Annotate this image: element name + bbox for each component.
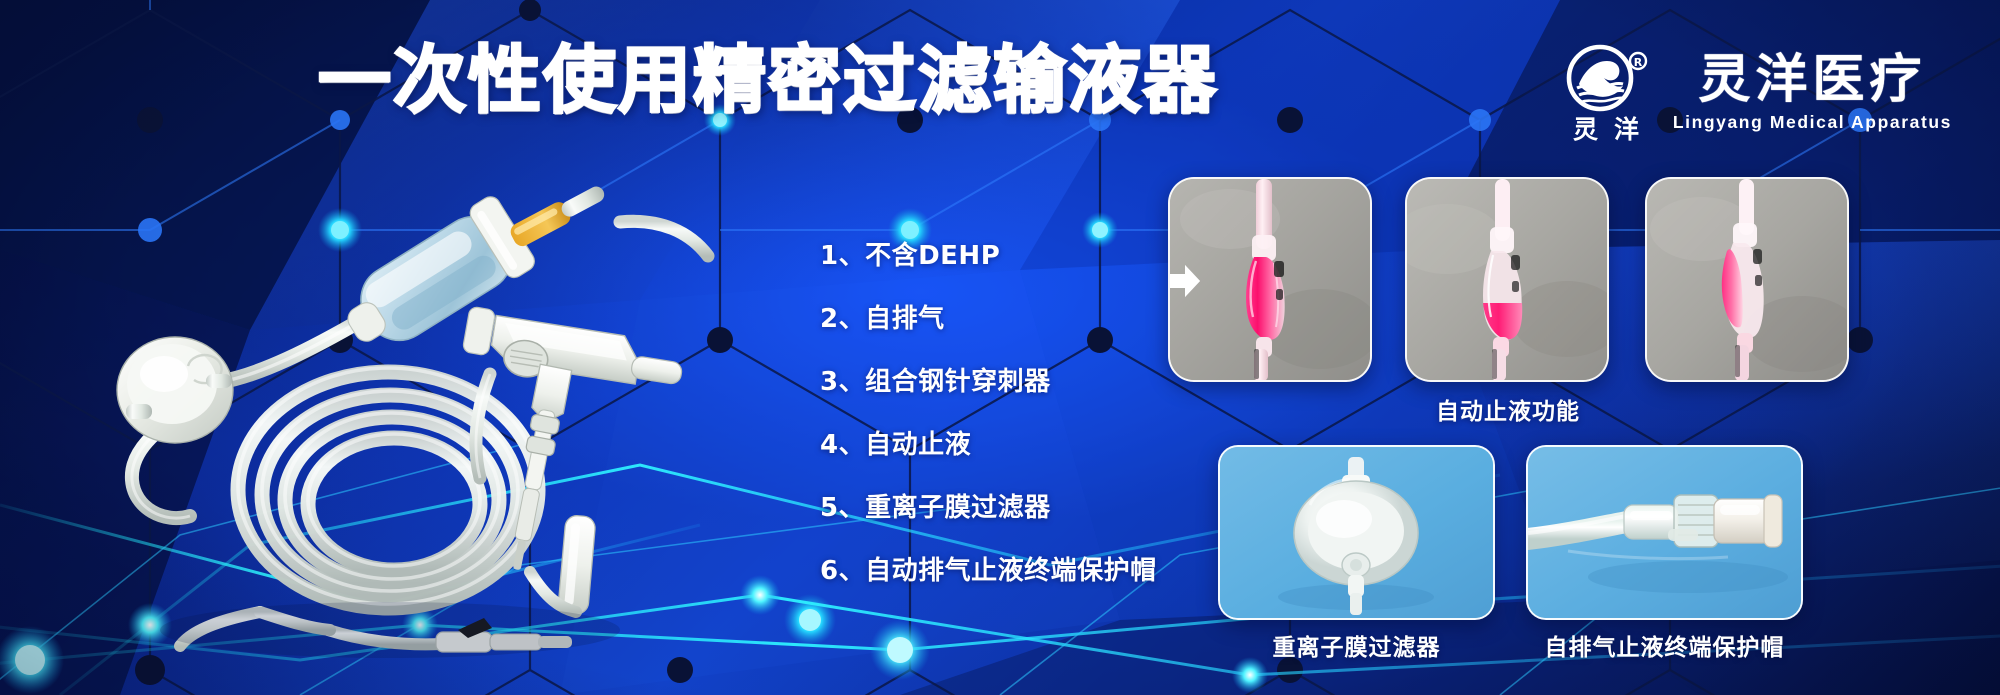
banner-root: 一次性使用精密过滤输液器 R 灵 洋 灵洋医疗 Lingyang Medical… [0, 0, 2000, 695]
bottom-photo-terminal-cap [1526, 445, 1803, 620]
logo-company-en: Lingyang Medical Apparatus [1673, 112, 1952, 133]
feature-item-4: 4、自动止液 [820, 411, 1157, 474]
page-title: 一次性使用精密过滤输液器 [318, 44, 1218, 117]
logo-wordmark: 灵洋医疗 Lingyang Medical Apparatus [1673, 53, 1952, 134]
flow-regulator-part [462, 306, 496, 356]
hero-product-photo [60, 160, 800, 680]
bottom-photo-filter [1218, 445, 1495, 620]
right-arrow-icon-2 [1168, 263, 1202, 299]
roller-clamp-part [487, 315, 685, 400]
logo-company-cn: 灵洋医疗 [1698, 53, 1926, 108]
brand-logo: R 灵 洋 灵洋医疗 Lingyang Medical Apparatus [1559, 44, 1952, 142]
terminal-protective-cap-part [558, 515, 596, 615]
feature-item-3: 3、组合钢针穿刺器 [820, 348, 1157, 411]
bottom-caption-terminal-cap: 自排气止液终端保护帽 [1526, 628, 1803, 662]
lingyang-circular-wave-emblem-icon: R 灵 洋 [1559, 44, 1655, 142]
precision-filter-part [117, 337, 233, 443]
feature-item-1: 1、不含DEHP [820, 222, 1157, 285]
auto-stop-sequence-group [1168, 177, 1848, 382]
feature-list: 1、不含DEHP 2、自排气 3、组合钢针穿刺器 4、自动止液 5、重离子膜过滤… [820, 222, 1157, 600]
sequence-caption: 自动止液功能 [1168, 392, 1848, 426]
logo-mark-sub-left: 灵 [1573, 115, 1598, 142]
feature-item-2: 2、自排气 [820, 285, 1157, 348]
logo-mark-sub-right: 洋 [1614, 115, 1639, 142]
sequence-photo-3 [1645, 177, 1849, 382]
bottom-cards-group [1218, 445, 1803, 620]
sequence-photo-2 [1405, 177, 1609, 382]
bottom-captions: 重离子膜过滤器 自排气止液终端保护帽 [1218, 628, 1803, 662]
svg-text:R: R [1634, 56, 1643, 69]
feature-item-5: 5、重离子膜过滤器 [820, 474, 1157, 537]
feature-item-6: 6、自动排气止液终端保护帽 [820, 537, 1157, 600]
amber-spike-cap [508, 180, 609, 249]
bottom-caption-filter: 重离子膜过滤器 [1218, 628, 1495, 662]
